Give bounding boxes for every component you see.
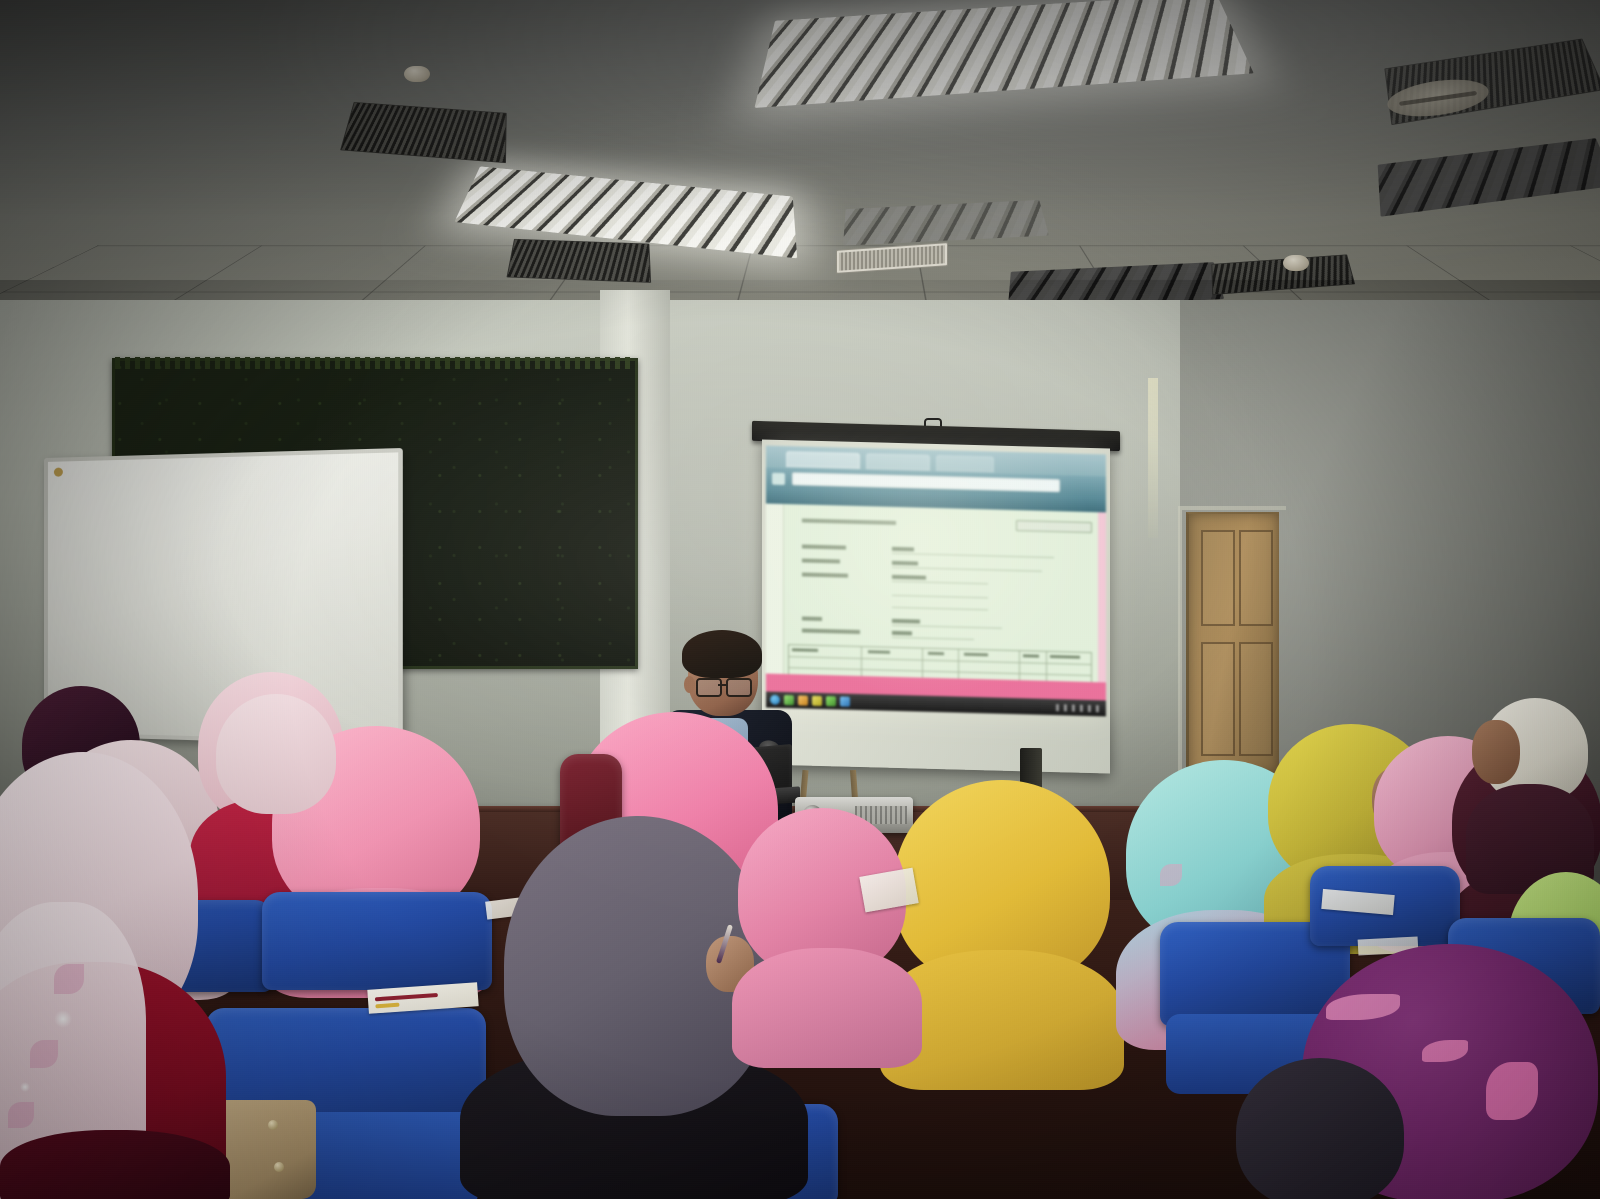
projected-browser-window <box>766 446 1106 717</box>
embroidery-motif-1 <box>54 964 84 994</box>
presenter-glasses-right <box>726 678 752 697</box>
taskbar-icon-app-3[interactable] <box>840 696 850 706</box>
attendee-pink-beside-grey <box>738 808 928 1058</box>
embroidery-motif-2 <box>30 1040 58 1068</box>
site-icon <box>772 473 785 485</box>
presenter-glasses-left <box>696 678 722 697</box>
attendee-pale-pink-back <box>216 694 346 814</box>
presenter-glasses-bridge <box>718 684 727 686</box>
sequin-sparkle <box>54 1010 72 1028</box>
presenter-hair <box>682 630 762 678</box>
shoulders <box>0 1130 230 1199</box>
form-page <box>766 504 1106 683</box>
attendee-dark-bottom-right <box>1236 1058 1406 1199</box>
fabric-floral-motif <box>1160 864 1182 886</box>
sequin-sparkle-2 <box>20 1082 30 1092</box>
taskbar-icon-app-2[interactable] <box>826 696 836 706</box>
seminar-room-photograph: Computer training seminar in a meeting r… <box>0 0 1600 1199</box>
embroidery-motif-3 <box>8 1102 34 1128</box>
hijab <box>216 694 336 814</box>
form-action-button[interactable] <box>1016 520 1092 533</box>
hijab <box>1236 1058 1404 1199</box>
system-tray[interactable] <box>1056 704 1102 712</box>
attendee-dark-bottom-left <box>0 1130 230 1199</box>
attendee-white-far-right <box>1466 698 1596 888</box>
form-heading <box>802 518 896 524</box>
taskbar-icon-app-1[interactable] <box>812 696 822 706</box>
presenter-ear <box>684 676 695 693</box>
page-right-accent <box>1098 512 1106 682</box>
hijab-floral-print-3 <box>1486 1062 1538 1120</box>
face <box>1472 720 1520 784</box>
shoulders <box>732 948 922 1068</box>
